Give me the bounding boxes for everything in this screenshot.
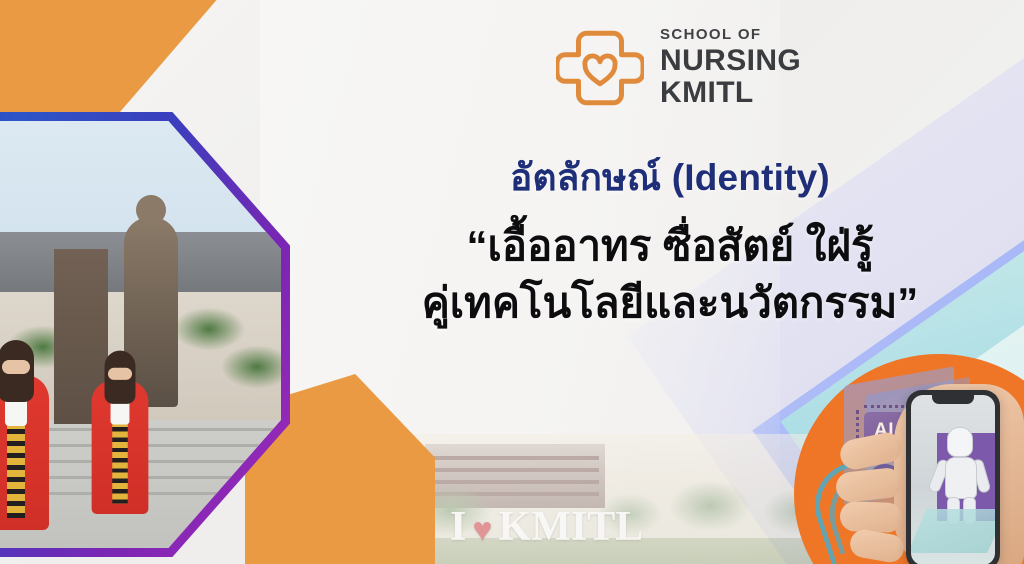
hexagon-photo-frame — [0, 112, 290, 557]
logo-wordmark: SCHOOL OF NURSING KMITL — [660, 27, 801, 109]
logo-line-school-of: SCHOOL OF — [660, 27, 801, 42]
screen-floor-plane — [911, 509, 995, 553]
quote-line-1: “เอื้ออาทร ซื่อสัตย์ ใฝ่รู้ — [380, 217, 960, 274]
palm-tree — [209, 327, 281, 423]
logo-line-nursing: NURSING — [660, 45, 801, 76]
robot-head — [947, 427, 973, 457]
quote-line-2: คู่เทคโนโลยีและนวัตกรรม” — [380, 274, 960, 331]
student-center — [0, 340, 49, 530]
headline-block: อัตลักษณ์ (Identity) “เอื้ออาทร ซื่อสัตย… — [380, 148, 960, 331]
identity-title: อัตลักษณ์ (Identity) — [380, 148, 960, 207]
robot-body — [945, 457, 977, 499]
hexagon-photo-content — [0, 121, 281, 548]
phone-notch — [932, 395, 974, 404]
logo-line-kmitl: KMITL — [660, 76, 801, 109]
student-right — [92, 351, 149, 514]
student-hair — [105, 351, 136, 404]
student-hair — [0, 340, 34, 402]
finger — [848, 528, 906, 564]
finger — [835, 467, 904, 504]
heart-icon: ♥ — [472, 514, 492, 548]
nursing-cross-heart-icon — [556, 24, 644, 112]
smartphone — [906, 390, 1000, 564]
sign-letters-kmitl: KMITL — [499, 506, 644, 548]
phone-screen — [911, 395, 995, 564]
school-of-nursing-logo: SCHOOL OF NURSING KMITL — [556, 24, 801, 112]
identity-quote: “เอื้ออาทร ซื่อสัตย์ ใฝ่รู้ คู่เทคโนโลยี… — [380, 217, 960, 331]
ai-phone-illustration: AI — [818, 352, 1018, 564]
sign-letter-i: I — [450, 506, 466, 548]
finger — [839, 501, 902, 533]
i-love-kmitl-sign: I ♥ KMITL — [450, 506, 643, 548]
identity-banner: I ♥ KMITL — [0, 0, 1024, 564]
